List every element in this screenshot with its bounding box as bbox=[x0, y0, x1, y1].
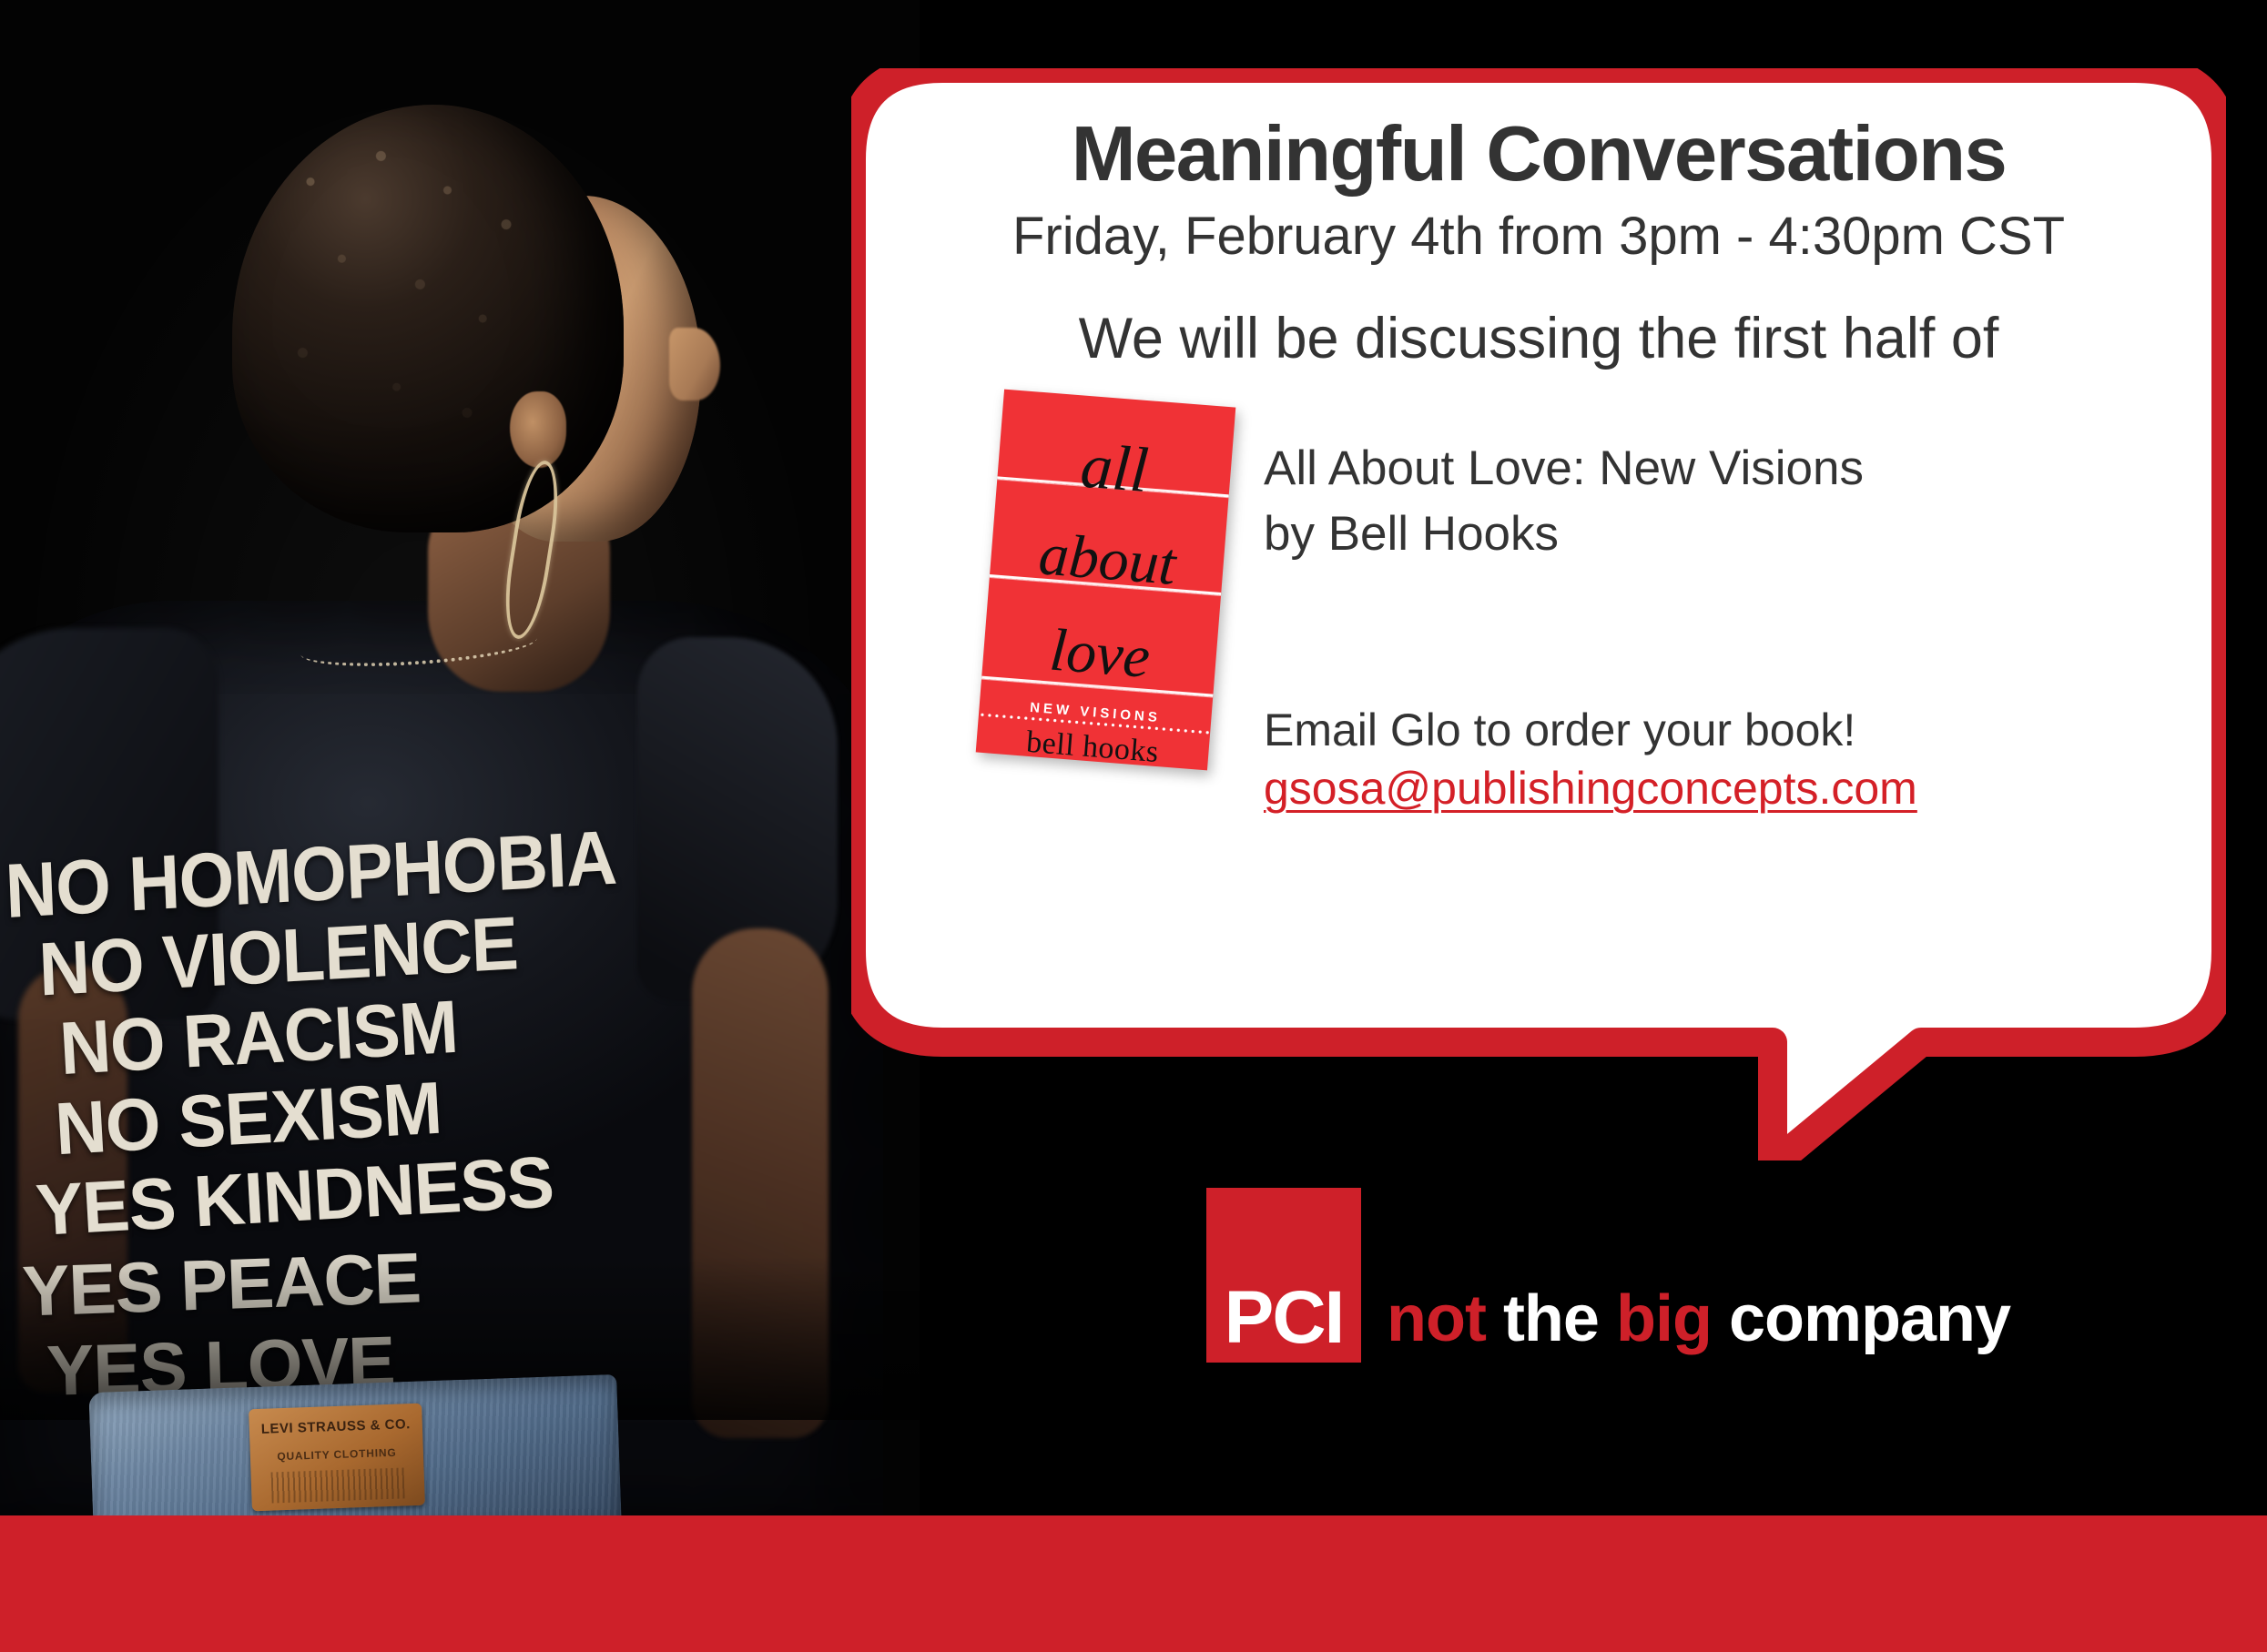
speech-bubble: Meaningful Conversations Friday, Februar… bbox=[851, 68, 2226, 1160]
tagline-word-not: not bbox=[1387, 1282, 1486, 1355]
book-cover-image: all about love NEW VISIONS bell hooks bbox=[976, 390, 1236, 771]
cover-word-love: love bbox=[981, 611, 1218, 698]
book-info-column: All About Love: New Visions by Bell Hook… bbox=[1264, 398, 2171, 815]
tagline-word-the: the bbox=[1503, 1282, 1599, 1355]
cover-word-all: all bbox=[996, 424, 1233, 515]
event-description: We will be discussing the first half of bbox=[906, 308, 2171, 370]
jeans-brand-line-1: LEVI STRAUSS & CO. bbox=[249, 1416, 422, 1438]
logo-initials: PCI bbox=[1206, 1281, 1361, 1355]
person-ear bbox=[510, 391, 566, 468]
book-row: all about love NEW VISIONS bell hooks Al… bbox=[906, 398, 2171, 815]
bubble-content: Meaningful Conversations Friday, Februar… bbox=[906, 114, 2171, 815]
tagline-word-company: company bbox=[1729, 1282, 2010, 1355]
book-title-line-2: by Bell Hooks bbox=[1264, 502, 2171, 567]
tagline-word-big: big bbox=[1616, 1282, 1712, 1355]
logo-square-mark: PCI bbox=[1206, 1188, 1361, 1363]
bottom-red-bar bbox=[0, 1515, 2267, 1652]
book-title-line-1: All About Love: New Visions bbox=[1264, 436, 2171, 502]
cover-word-about: about bbox=[989, 517, 1225, 604]
jeans-brand-line-2: QUALITY CLOTHING bbox=[250, 1445, 423, 1465]
logo-tagline: not the big company bbox=[1387, 1286, 2010, 1363]
email-link[interactable]: gsosa@publishingconcepts.com bbox=[1264, 762, 1917, 815]
email-instruction: Email Glo to order your book! bbox=[1264, 703, 2171, 758]
jeans-patch-illustration bbox=[271, 1467, 405, 1503]
event-photo: NO HOMOPHOBIA NO VIOLENCE NO RACISM NO S… bbox=[0, 0, 920, 1520]
event-title: Meaningful Conversations bbox=[906, 114, 2171, 195]
pci-logo: PCI not the big company bbox=[1206, 1188, 2010, 1363]
jeans-brand-patch: LEVI STRAUSS & CO. QUALITY CLOTHING bbox=[249, 1404, 425, 1512]
tshirt-slogan: NO HOMOPHOBIA NO VIOLENCE NO RACISM NO S… bbox=[0, 806, 841, 1411]
person-nose bbox=[669, 328, 720, 400]
promotional-poster: NO HOMOPHOBIA NO VIOLENCE NO RACISM NO S… bbox=[0, 0, 2267, 1652]
event-datetime: Friday, February 4th from 3pm - 4:30pm C… bbox=[906, 208, 2171, 266]
